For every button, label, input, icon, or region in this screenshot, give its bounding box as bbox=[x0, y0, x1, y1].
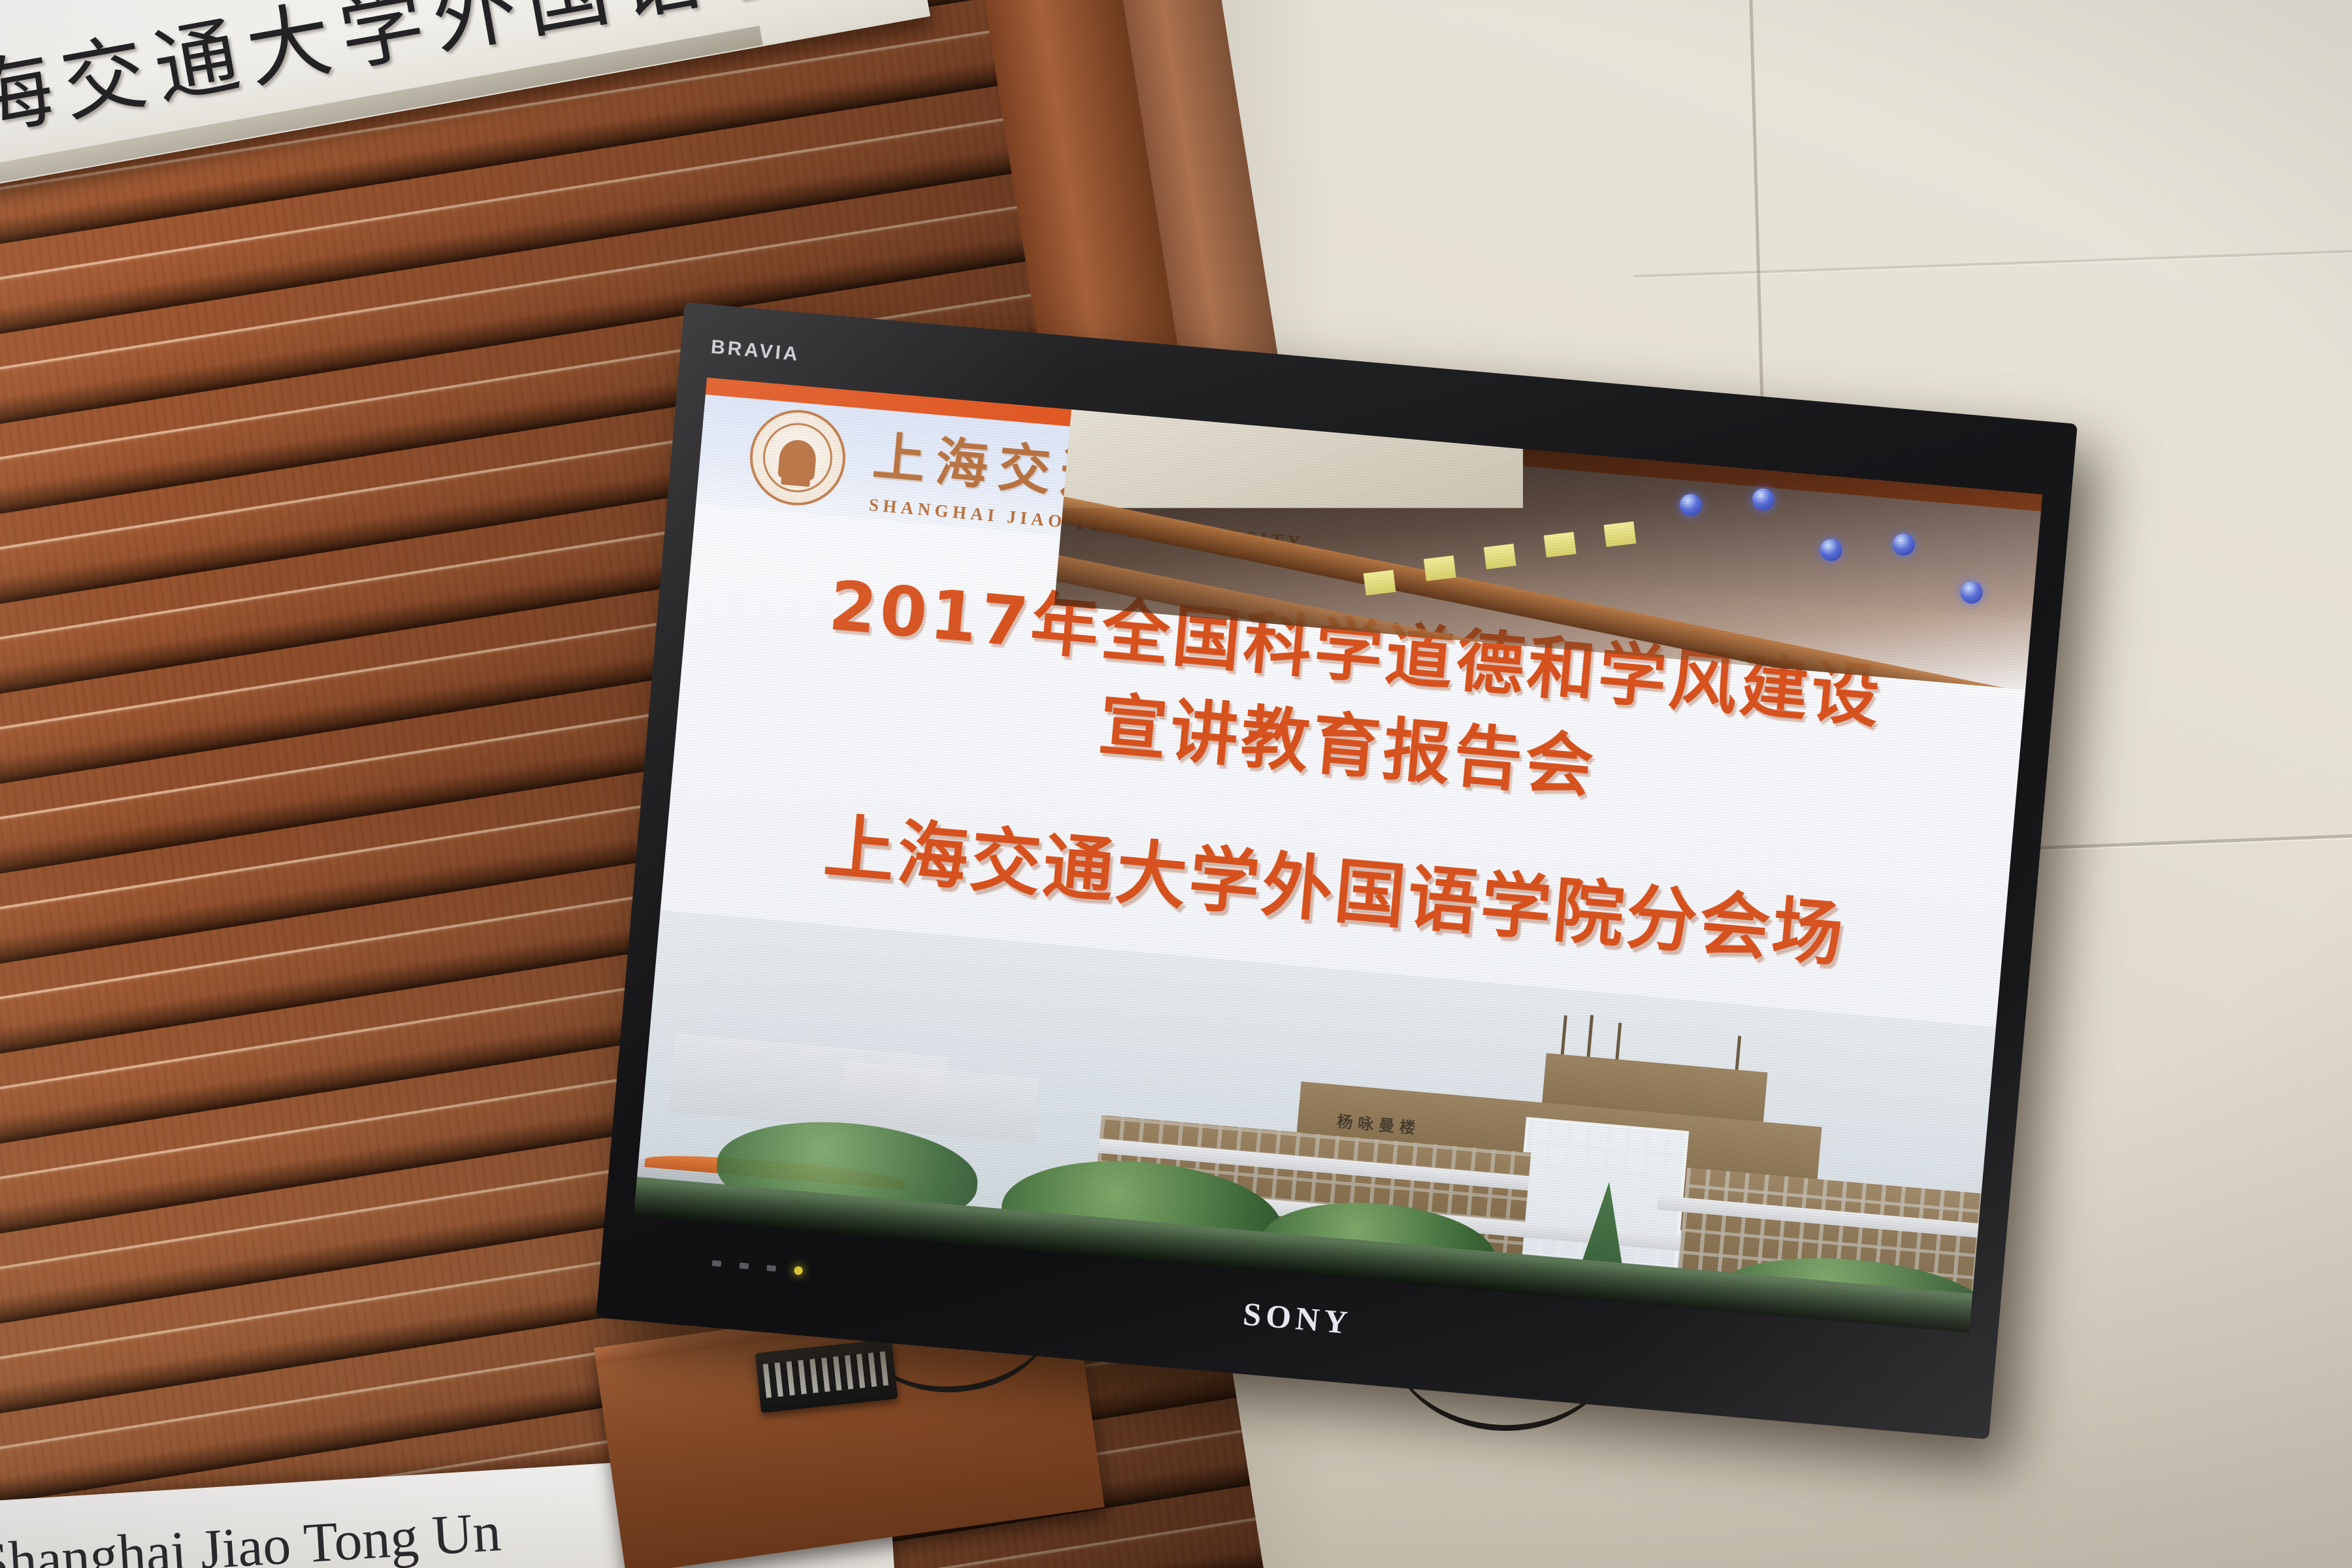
scene-vignette bbox=[0, 0, 2352, 1568]
room-scene: 海交通大学外国语学院 Shanghai Jiao Tong Un BRAVIA … bbox=[0, 0, 2352, 1568]
